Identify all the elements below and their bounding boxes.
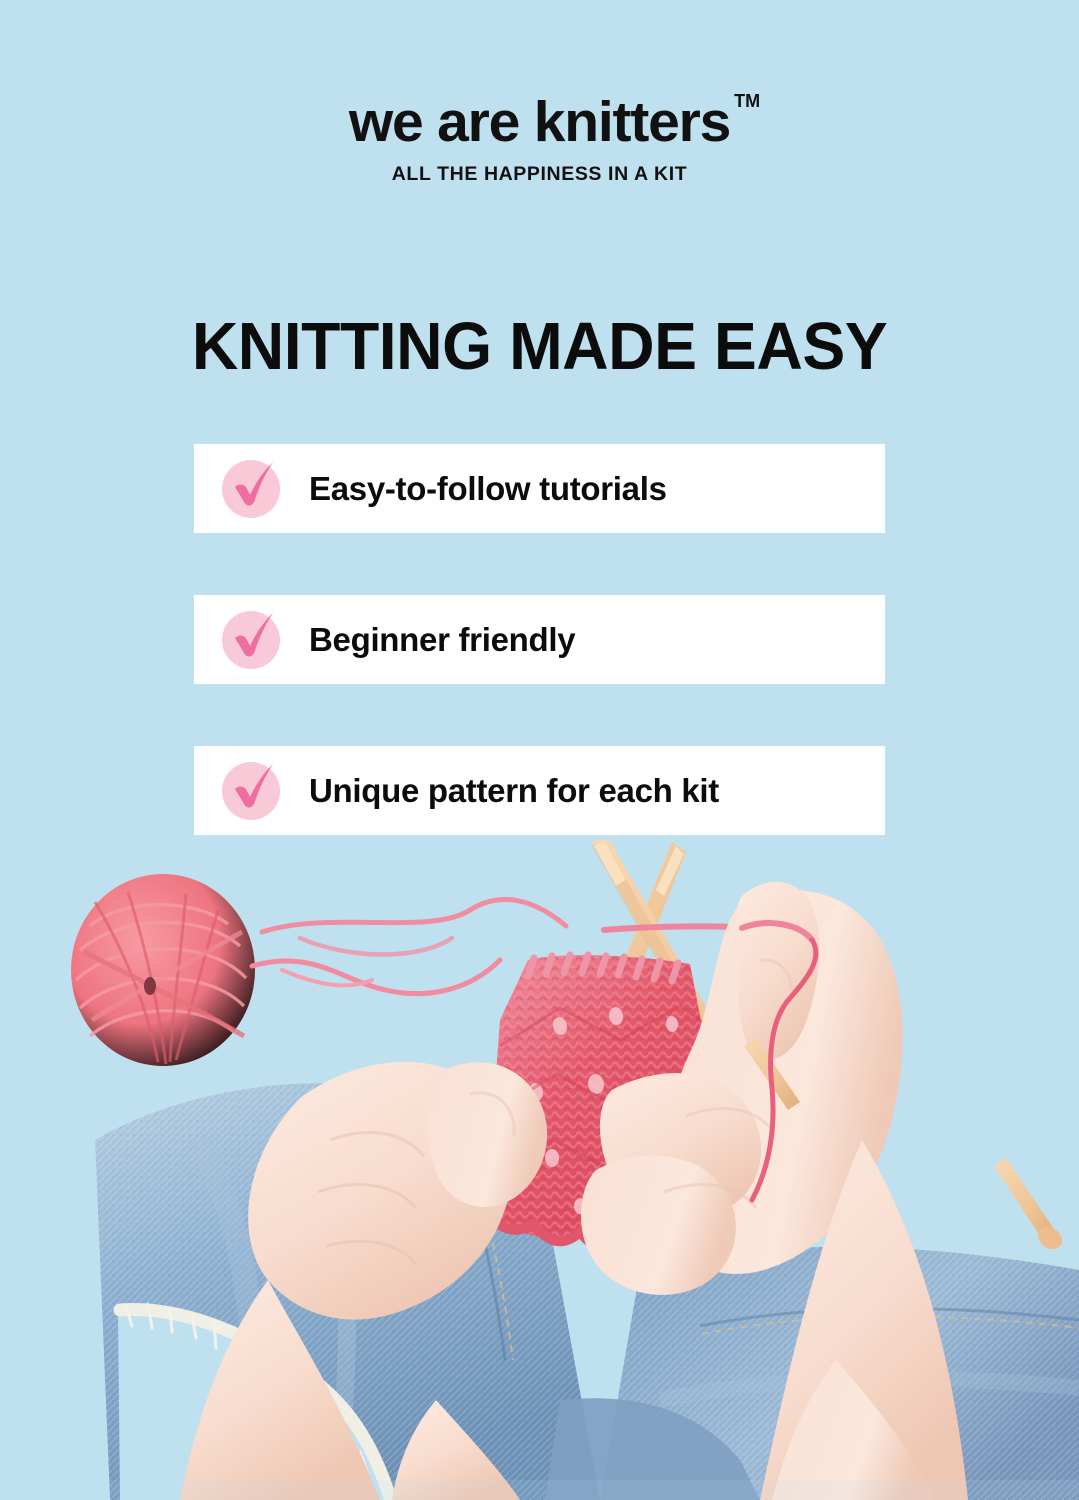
page-title: KNITTING MADE EASY: [22, 313, 1058, 380]
check-icon: [220, 760, 282, 822]
feature-card: Easy-to-follow tutorials: [194, 444, 885, 533]
brand-wordmark-text: we are knitters: [349, 90, 730, 154]
check-icon: [220, 458, 282, 520]
poster-canvas: we are knitters TM ALL THE HAPPINESS IN …: [0, 0, 1079, 1500]
trademark-symbol: TM: [734, 92, 760, 110]
check-icon: [220, 609, 282, 671]
brand-wordmark: we are knitters TM: [349, 94, 730, 151]
brand-tagline: ALL THE HAPPINESS IN A KIT: [0, 163, 1079, 186]
knitting-photo: [0, 840, 1079, 1500]
feature-card: Beginner friendly: [194, 595, 885, 684]
brand-header: we are knitters TM ALL THE HAPPINESS IN …: [0, 94, 1079, 186]
feature-list: Easy-to-follow tutorials Beginner friend…: [194, 444, 885, 835]
feature-label: Easy-to-follow tutorials: [309, 470, 667, 508]
feature-label: Unique pattern for each kit: [309, 772, 719, 810]
feature-label: Beginner friendly: [309, 621, 575, 659]
feature-card: Unique pattern for each kit: [194, 746, 885, 835]
